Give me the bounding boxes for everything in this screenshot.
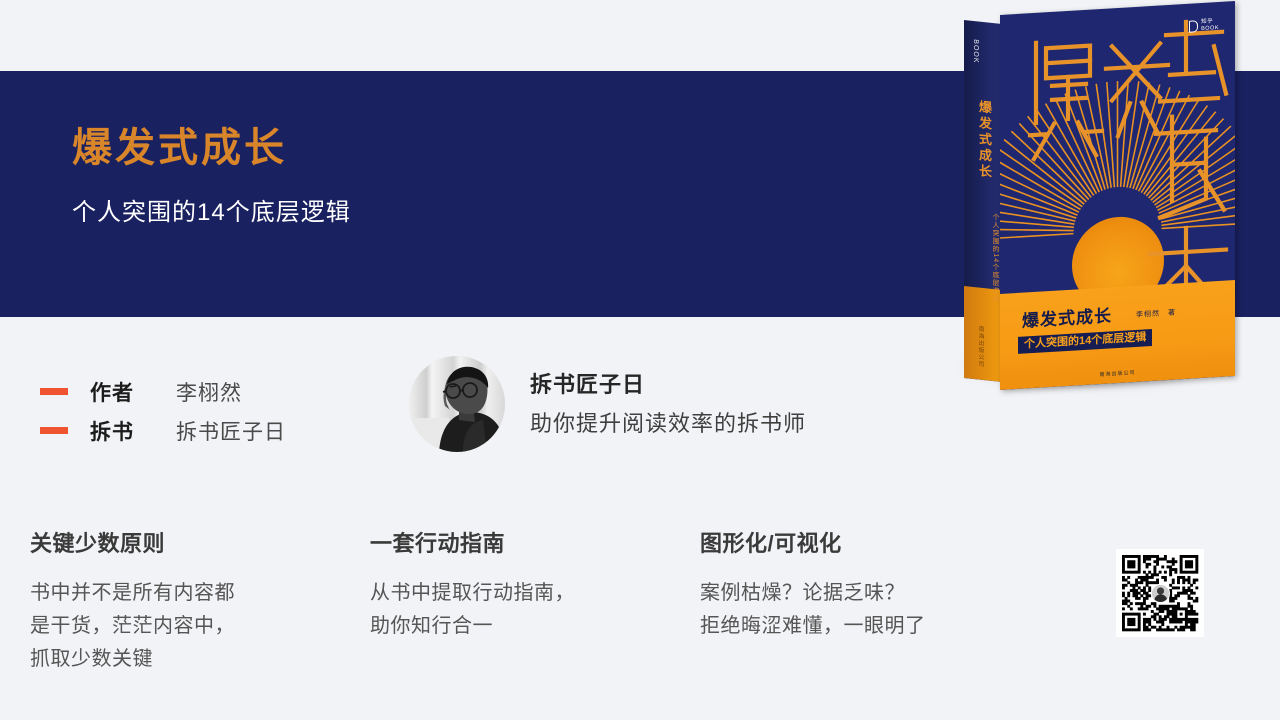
feature-columns: 关键少数原则 书中并不是所有内容都 是干货，茫茫内容中， 抓取少数关键 一套行动…	[30, 533, 1080, 676]
feature-column-2: 一套行动指南 从书中提取行动指南， 助你知行合一	[370, 533, 700, 676]
qr-code[interactable]	[1116, 549, 1204, 637]
presenter-description: 助你提升阅读效率的拆书师	[530, 413, 806, 435]
logo-line-2: BOOK	[1201, 25, 1219, 33]
dash-marker-icon	[40, 427, 68, 434]
dash-marker-icon	[40, 388, 68, 395]
meta-label-author: 作者	[90, 377, 164, 407]
avatar	[409, 356, 505, 452]
book-cover-image: BOOK 爆发式成长 个人突围的14个底层逻辑 南海出版公司	[944, 2, 1244, 402]
page-title: 爆发式成长	[72, 128, 287, 168]
feature-column-3: 图形化/可视化 案例枯燥？论据乏味？ 拒绝晦涩难懂，一眼明了	[700, 533, 1040, 676]
book-cover-title: 爆发式成长	[1022, 307, 1112, 329]
presenter-block: 拆书匠子日 助你提升阅读效率的拆书师	[409, 356, 806, 452]
book-spine-logo: BOOK	[972, 39, 979, 64]
meta-label-reader: 拆书	[90, 416, 164, 446]
book-meta-list: 作者 李栩然 拆书 拆书匠子日	[40, 372, 286, 450]
qr-center-avatar	[1151, 584, 1170, 603]
book-spine-publisher: 南海出版公司	[976, 325, 985, 368]
feature-title: 图形化/可视化	[700, 533, 1040, 555]
feature-column-1: 关键少数原则 书中并不是所有内容都 是干货，茫茫内容中， 抓取少数关键	[30, 533, 370, 676]
book-cover-band: 爆发式成长 李栩然 著 个人突围的14个底层逻辑 南海出版公司	[1000, 280, 1235, 390]
feature-body: 书中并不是所有内容都 是干货，茫茫内容中， 抓取少数关键	[30, 577, 370, 676]
meta-row-reader: 拆书 拆书匠子日	[40, 411, 286, 450]
feature-body: 从书中提取行动指南， 助你知行合一	[370, 577, 700, 643]
book-spine: BOOK 爆发式成长 个人突围的14个底层逻辑 南海出版公司	[964, 20, 1002, 382]
slide-canvas: 爆发式成长 个人突围的14个底层逻辑 BOOK 爆发式成长 个人突围的14个底层…	[0, 0, 1280, 720]
feature-body: 案例枯燥？论据乏味？ 拒绝晦涩难懂，一眼明了	[700, 577, 1040, 643]
meta-value-reader: 拆书匠子日	[176, 416, 286, 446]
avatar-photo	[409, 356, 505, 452]
feature-title: 一套行动指南	[370, 533, 700, 555]
presenter-name: 拆书匠子日	[530, 374, 806, 396]
book-spine-title: 爆发式成长	[975, 99, 991, 181]
meta-value-author: 李栩然	[176, 377, 242, 407]
book-cover-publisher: 南海出版公司	[1099, 369, 1135, 378]
book-front-cover: 爆发式成长 李栩然 著 个人突围的14个底层逻辑 南海出版公司 知乎 BOOK	[1000, 1, 1235, 390]
book-cover-subtitle: 个人突围的14个底层逻辑	[1018, 329, 1152, 354]
feature-title: 关键少数原则	[30, 533, 370, 555]
book-cover-author: 李栩然 著	[1136, 308, 1176, 320]
page-subtitle: 个人突围的14个底层逻辑	[72, 201, 351, 225]
presenter-text: 拆书匠子日 助你提升阅读效率的拆书师	[530, 374, 806, 435]
book-spine-subtitle: 个人突围的14个底层逻辑	[990, 213, 1000, 304]
qr-avatar-photo	[1152, 585, 1169, 602]
book-mark-icon	[1189, 20, 1198, 33]
zhihu-book-logo: 知乎 BOOK	[1189, 18, 1219, 34]
meta-row-author: 作者 李栩然	[40, 372, 286, 411]
